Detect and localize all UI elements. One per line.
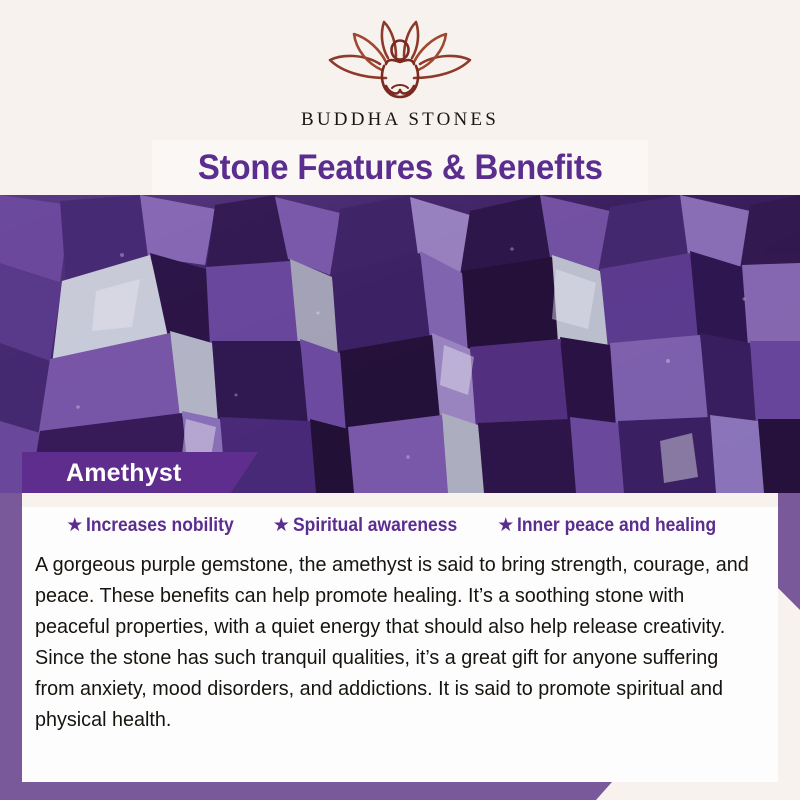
title-banner: Stone Features & Benefits — [152, 140, 648, 195]
benefit-item: ★ Inner peace and healing — [497, 515, 734, 537]
stone-description: A gorgeous purple gemstone, the amethyst… — [35, 549, 749, 735]
infographic-page: BUDDHA STONES Stone Features & Benefits — [0, 0, 800, 800]
frame-band-bottom — [0, 782, 800, 800]
benefit-item: ★ Spiritual awareness — [273, 515, 472, 537]
frame-band-left — [0, 490, 22, 800]
brand-logo-group: BUDDHA STONES — [0, 18, 800, 129]
benefit-label: Inner peace and healing — [517, 515, 716, 537]
star-icon: ★ — [497, 516, 514, 535]
page-title: Stone Features & Benefits — [198, 148, 603, 188]
benefits-row: ★ Increases nobility ★ Spiritual awarene… — [22, 515, 778, 537]
frame-tab-right — [778, 492, 800, 610]
benefit-label: Spiritual awareness — [293, 515, 457, 537]
benefit-item: ★ Increases nobility — [66, 515, 247, 537]
amethyst-photo — [0, 195, 800, 493]
stone-name-text: Amethyst — [66, 459, 182, 488]
panel-top-strip — [22, 493, 778, 507]
amethyst-crystal-illustration — [0, 195, 800, 493]
brand-name: BUDDHA STONES — [301, 110, 499, 129]
star-icon: ★ — [273, 516, 290, 535]
star-icon: ★ — [66, 516, 83, 535]
content-panel: ★ Increases nobility ★ Spiritual awarene… — [22, 493, 778, 782]
benefit-label: Increases nobility — [86, 515, 234, 537]
stone-name-label: Amethyst — [22, 452, 258, 494]
lotus-meditation-icon — [324, 18, 476, 104]
